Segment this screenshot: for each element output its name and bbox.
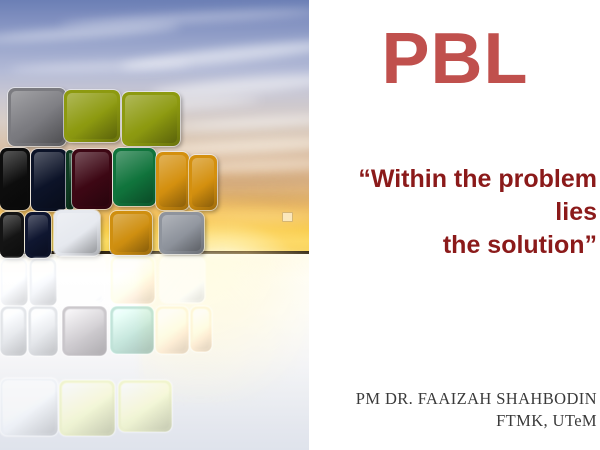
reflection-tan-2 [155,306,189,354]
reflection-tan [110,256,155,304]
cube-white-row3 [54,210,100,256]
cube-olive-top-mid [64,90,120,142]
quote-text: “Within the problem lies the solution” [318,163,597,262]
reflection-white [57,256,105,304]
quote-line-2: the solution” [318,229,597,262]
reflection-gray-a [0,258,28,306]
author-block: PM DR. FAAIZAH SHAHBODIN FTMK, UTeM [318,388,597,432]
quote-line-1: “Within the problem lies [318,163,597,229]
cube-olive-top-right [122,92,180,146]
cube-orange-row2-right [189,155,217,210]
reflection-mauve [62,306,107,356]
cube-sunset-photo [0,0,309,450]
cube-orange-row3 [110,211,152,255]
reflection-gray-c [0,306,27,356]
slide-canvas: PBL “Within the problem lies the solutio… [0,0,600,450]
cube-black-row3-left [0,212,24,258]
author-name: PM DR. FAAIZAH SHAHBODIN [318,388,597,410]
cube-green-row2 [113,148,156,206]
cube-orange-row2 [156,152,189,210]
reflection-teal [110,306,154,354]
reflection-tan-3 [190,306,212,352]
author-affiliation: FTMK, UTeM [318,410,597,432]
cube-gray-top-left [8,88,66,146]
cube-navy-row3 [25,212,51,258]
reflection-gray-e [0,378,58,436]
cube-black-row2-left [0,148,30,210]
page-title: PBL [310,20,600,98]
cube-gray-row3-right [159,212,204,254]
reflection-gray-d [28,306,58,356]
watermark-icon [282,212,293,222]
reflection-olive-b [118,380,172,432]
reflection-olive-a [59,380,115,436]
cube-maroon-row2 [72,149,112,209]
reflection-gray-b [29,258,57,306]
cube-navy-row2 [31,149,67,211]
reflection-silver [160,257,205,303]
